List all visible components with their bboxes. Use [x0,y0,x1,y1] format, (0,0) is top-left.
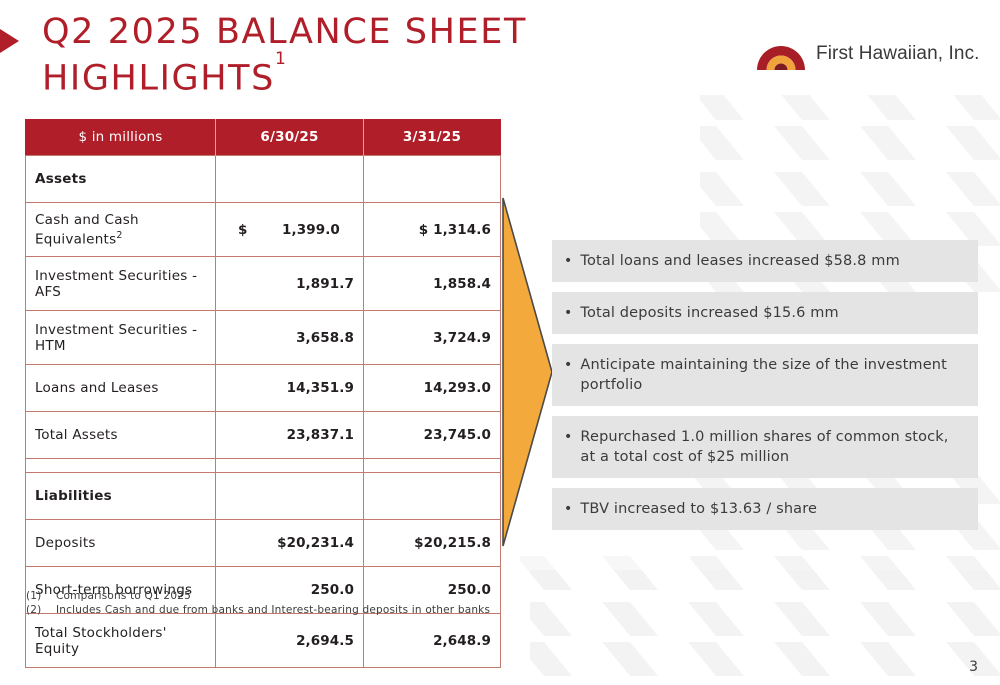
footnote-text: Comparisons to Q1 2025 [56,589,191,603]
balance-sheet-table-wrapper: $ in millions 6/30/25 3/31/25 Assets Cas… [25,119,500,668]
highlights-list: • Total loans and leases increased $58.8… [552,240,978,540]
table-spacer-row [26,459,501,473]
row-label [26,459,216,473]
footnote-marker: (2) [26,603,46,617]
footnote-marker: (1) [26,589,46,603]
list-item-text: Total deposits increased $15.6 mm [580,303,964,323]
row-value-2: $ 1,314.6 [364,203,501,257]
bullet-dot-icon: • [564,303,572,323]
column-header-label: $ in millions [26,120,216,156]
row-value-2 [364,473,501,520]
page-title-superscript: 1 [275,49,286,69]
row-label: Total Stockholders' Equity [26,614,216,668]
row-label: Cash and Cash Equivalents2 [26,203,216,257]
table-row: Cash and Cash Equivalents2 $1,399.0 $ 1,… [26,203,501,257]
row-label: Investment Securities - HTM [26,311,216,365]
table-row: Loans and Leases 14,351.9 14,293.0 [26,365,501,412]
row-value-1 [216,473,364,520]
row-label: Total Assets [26,412,216,459]
column-header-period-2: 3/31/25 [364,120,501,156]
slide-canvas: Q2 2025 BALANCE SHEET HIGHLIGHTS1 First … [0,0,1000,685]
table-row: Deposits $20,231.4 $20,215.8 [26,520,501,567]
company-logo: First Hawaiian, Inc. [755,30,990,78]
row-label: Assets [26,156,216,203]
row-value-1: 14,351.9 [216,365,364,412]
page-title: Q2 2025 BALANCE SHEET HIGHLIGHTS1 [42,12,602,99]
balance-sheet-table: $ in millions 6/30/25 3/31/25 Assets Cas… [25,119,501,668]
list-item-text: Anticipate maintaining the size of the i… [580,355,964,395]
row-label-text: Cash and Cash Equivalents [35,212,139,248]
table-row: Total Stockholders' Equity 2,694.5 2,648… [26,614,501,668]
row-value-2: $20,215.8 [364,520,501,567]
row-value-1: $20,231.4 [216,520,364,567]
page-title-line2: HIGHLIGHTS [42,59,275,99]
footnotes: (1) Comparisons to Q1 2025 (2) Includes … [26,589,490,617]
table-row: Assets [26,156,501,203]
bullet-dot-icon: • [564,427,572,447]
row-label-superscript: 2 [116,230,122,241]
list-item-text: Total loans and leases increased $58.8 m… [580,251,964,271]
row-value-1: 1,891.7 [216,257,364,311]
column-header-period-1: 6/30/25 [216,120,364,156]
row-label: Liabilities [26,473,216,520]
table-header-row: $ in millions 6/30/25 3/31/25 [26,120,501,156]
bullet-dot-icon: • [564,499,572,519]
row-label: Investment Securities - AFS [26,257,216,311]
list-item-text: Repurchased 1.0 million shares of common… [580,427,964,467]
bullet-dot-icon: • [564,251,572,271]
row-value-1: $1,399.0 [216,203,364,257]
table-row: Investment Securities - HTM 3,658.8 3,72… [26,311,501,365]
row-value-2: 3,724.9 [364,311,501,365]
row-value-1-amount: 1,399.0 [282,222,340,238]
row-value-1: 3,658.8 [216,311,364,365]
orange-arrow-icon [497,196,555,552]
list-item: • Repurchased 1.0 million shares of comm… [552,416,978,478]
list-item: • TBV increased to $13.63 / share [552,488,978,530]
bullet-dot-icon: • [564,355,572,375]
row-value-1: 23,837.1 [216,412,364,459]
row-value-2: 23,745.0 [364,412,501,459]
footnote-row: (2) Includes Cash and due from banks and… [26,603,490,617]
table-row: Liabilities [26,473,501,520]
row-value-1 [216,459,364,473]
table-row: Investment Securities - AFS 1,891.7 1,85… [26,257,501,311]
row-value-1: 2,694.5 [216,614,364,668]
row-value-2 [364,459,501,473]
footnote-text: Includes Cash and due from banks and Int… [56,603,490,617]
company-name: First Hawaiian, Inc. [816,43,980,65]
row-value-2: 2,648.9 [364,614,501,668]
page-number: 3 [969,659,978,675]
row-value-2: 1,858.4 [364,257,501,311]
list-item: • Total loans and leases increased $58.8… [552,240,978,282]
row-label: Deposits [26,520,216,567]
page-title-line1: Q2 2025 BALANCE SHEET [42,12,527,52]
list-item-text: TBV increased to $13.63 / share [580,499,964,519]
list-item: • Total deposits increased $15.6 mm [552,292,978,334]
row-value-2 [364,156,501,203]
list-item: • Anticipate maintaining the size of the… [552,344,978,406]
row-value-2: 14,293.0 [364,365,501,412]
currency-symbol: $ [238,222,282,238]
first-hawaiian-arc-icon [755,37,807,71]
table-row: Total Assets 23,837.1 23,745.0 [26,412,501,459]
footnote-row: (1) Comparisons to Q1 2025 [26,589,490,603]
title-arrow-icon [0,29,19,53]
row-label: Loans and Leases [26,365,216,412]
row-value-1 [216,156,364,203]
